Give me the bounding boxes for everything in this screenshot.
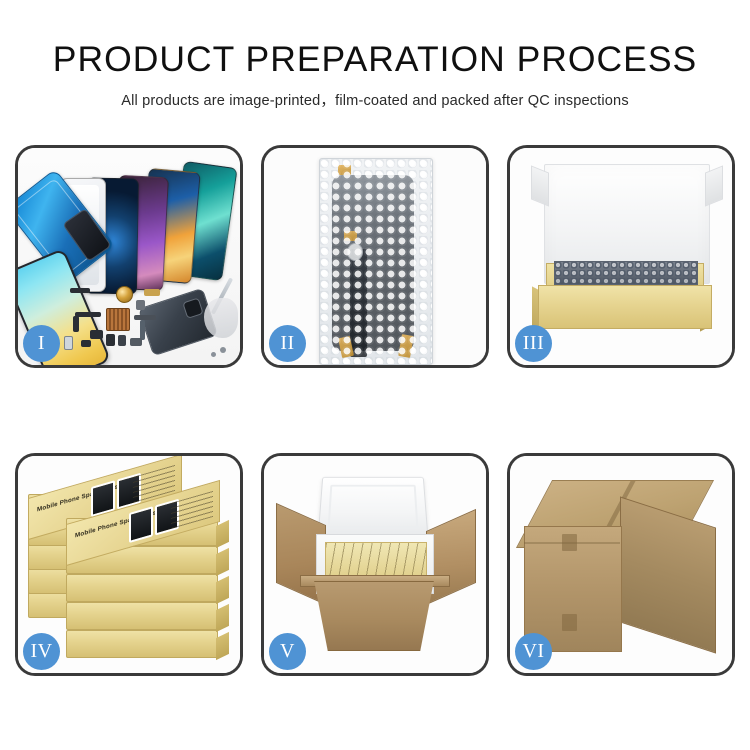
bubble-wrap-package (319, 158, 433, 365)
flex-cable-icon (350, 249, 367, 357)
component-icon (130, 338, 142, 346)
process-step-panel-5: V (261, 453, 489, 676)
process-step-panel-4: Mobile Phone Spare Parts Mobile Phone Sp… (15, 453, 243, 676)
component-icon (75, 312, 101, 317)
tape-icon (398, 334, 414, 358)
wrapped-screen-icon (332, 175, 414, 351)
component-icon (64, 336, 73, 350)
process-step-panel-3: III (507, 145, 735, 368)
connector-icon (347, 243, 363, 261)
tape-icon (338, 165, 351, 175)
box-spec-lines (171, 491, 213, 529)
process-step-panel-6: VI (507, 453, 735, 676)
component-icon (81, 340, 91, 347)
process-step-panel-2: II (261, 145, 489, 368)
step-badge-2: II (269, 325, 306, 362)
carton-tab-icon (562, 534, 577, 551)
page-header: PRODUCT PREPARATION PROCESS All products… (0, 0, 750, 110)
bubble-wrapped-contents (554, 261, 698, 285)
carton-tab-icon (562, 614, 577, 631)
box-window-icon (129, 506, 153, 543)
process-step-panel-1: I (15, 145, 243, 368)
step-badge-6: VI (515, 633, 552, 670)
step-badge-4: IV (23, 633, 60, 670)
page-subtitle: All products are image-printed，film-coat… (0, 79, 750, 110)
component-icon (118, 335, 126, 346)
page-title: PRODUCT PREPARATION PROCESS (0, 0, 750, 79)
component-icon (134, 315, 156, 320)
retail-box-icon (66, 602, 218, 630)
component-icon (90, 330, 103, 339)
retail-box-icon (66, 574, 218, 602)
process-step-grid: I II (15, 145, 735, 676)
chip-icon (106, 308, 130, 331)
foam-lid-icon (318, 477, 429, 538)
carton-front-face (306, 581, 442, 651)
component-icon (136, 300, 145, 310)
tape-icon (344, 231, 357, 241)
step-badge-5: V (269, 633, 306, 670)
kraft-tray-box-icon (538, 285, 712, 329)
step-badge-3: III (515, 325, 552, 362)
product-preparation-process-page: PRODUCT PREPARATION PROCESS All products… (0, 0, 750, 750)
component-icon (140, 320, 145, 340)
component-icon (106, 334, 115, 346)
screw-icon (220, 347, 226, 353)
hand-icon (204, 298, 238, 338)
component-icon (144, 289, 160, 296)
carton-side-face (620, 496, 716, 653)
step-badge-1: I (23, 325, 60, 362)
screw-icon (211, 352, 216, 357)
component-icon (70, 288, 90, 293)
component-icon (73, 316, 79, 332)
copper-coil-icon (116, 286, 133, 303)
retail-box-icon (66, 630, 218, 658)
